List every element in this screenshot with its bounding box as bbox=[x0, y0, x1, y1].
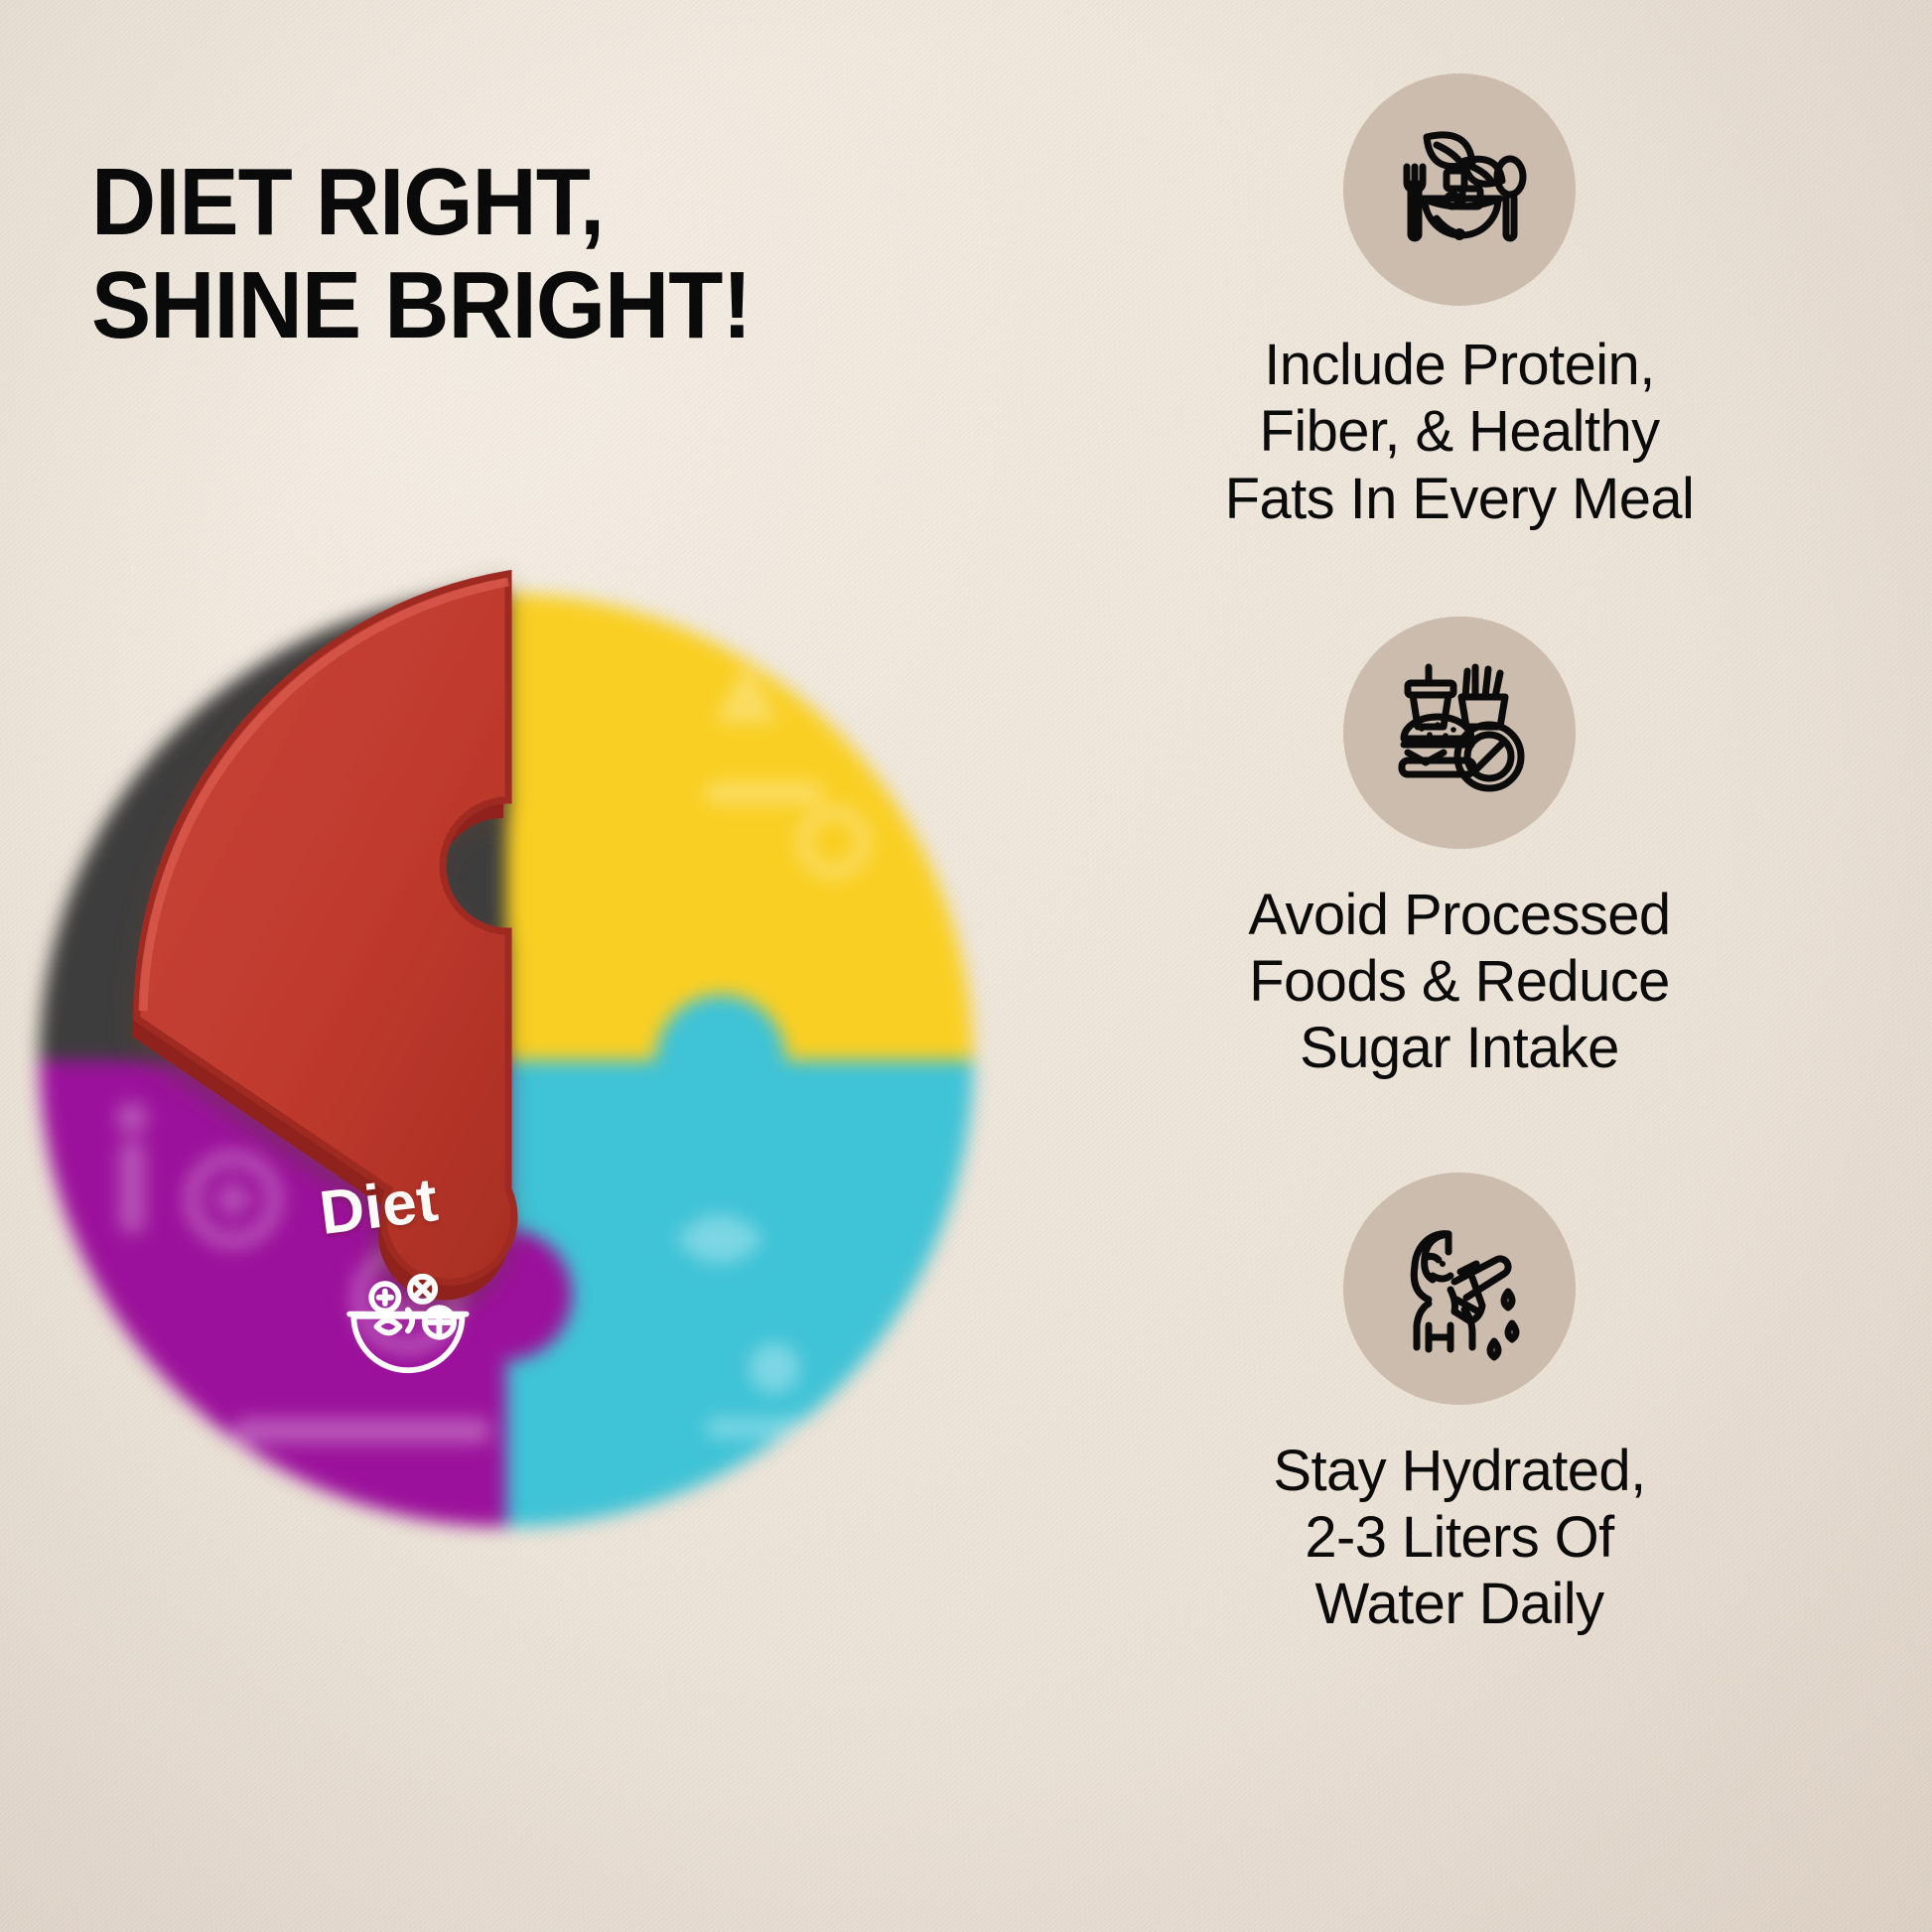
tip-text: Stay Hydrated, 2-3 Liters Of Water Daily bbox=[1023, 1438, 1896, 1638]
tip-text: Include Protein, Fiber, & Healthy Fats I… bbox=[1023, 332, 1896, 532]
tip-line: Foods & Reduce bbox=[1062, 948, 1857, 1015]
tip-item-avoid-processed-foods: Avoid Processed Foods & Reduce Sugar Int… bbox=[1023, 584, 1896, 1082]
tip-line: Include Protein, bbox=[1062, 332, 1857, 398]
page-title: DIET RIGHT, SHINE BRIGHT! bbox=[91, 151, 931, 356]
puzzle-center-label: Diet bbox=[316, 1165, 442, 1249]
tip-line: 2-3 Liters Of bbox=[1062, 1504, 1857, 1571]
page-title-line-1: DIET RIGHT, bbox=[91, 151, 931, 254]
puzzle-piece-diet bbox=[20, 544, 993, 1547]
tip-line: Fats In Every Meal bbox=[1062, 466, 1857, 532]
tip-line: Water Daily bbox=[1062, 1571, 1857, 1637]
no-junk-food-icon-badge bbox=[1343, 617, 1576, 849]
drinking-water-icon-badge bbox=[1343, 1173, 1576, 1405]
tip-icon-container bbox=[1023, 584, 1896, 882]
salad-bowl-icon bbox=[1385, 115, 1534, 264]
tip-line: Avoid Processed bbox=[1062, 882, 1857, 948]
drinking-water-icon bbox=[1385, 1214, 1534, 1363]
puzzle-graphic: Diet bbox=[20, 544, 993, 1547]
tips-list: Include Protein, Fiber, & Healthy Fats I… bbox=[1023, 48, 1896, 1665]
tip-item-protein-fiber-fats: Include Protein, Fiber, & Healthy Fats I… bbox=[1023, 48, 1896, 532]
tip-line: Fiber, & Healthy bbox=[1062, 398, 1857, 465]
tip-icon-container bbox=[1023, 48, 1896, 332]
tip-icon-container bbox=[1023, 1140, 1896, 1438]
page-title-line-2: SHINE BRIGHT! bbox=[91, 254, 931, 357]
tip-line: Sugar Intake bbox=[1062, 1015, 1857, 1081]
tip-line: Stay Hydrated, bbox=[1062, 1438, 1857, 1504]
salad-bowl-icon-badge bbox=[1343, 73, 1576, 306]
tip-item-stay-hydrated: Stay Hydrated, 2-3 Liters Of Water Daily bbox=[1023, 1140, 1896, 1638]
tip-text: Avoid Processed Foods & Reduce Sugar Int… bbox=[1023, 882, 1896, 1082]
no-junk-food-icon bbox=[1384, 657, 1535, 808]
